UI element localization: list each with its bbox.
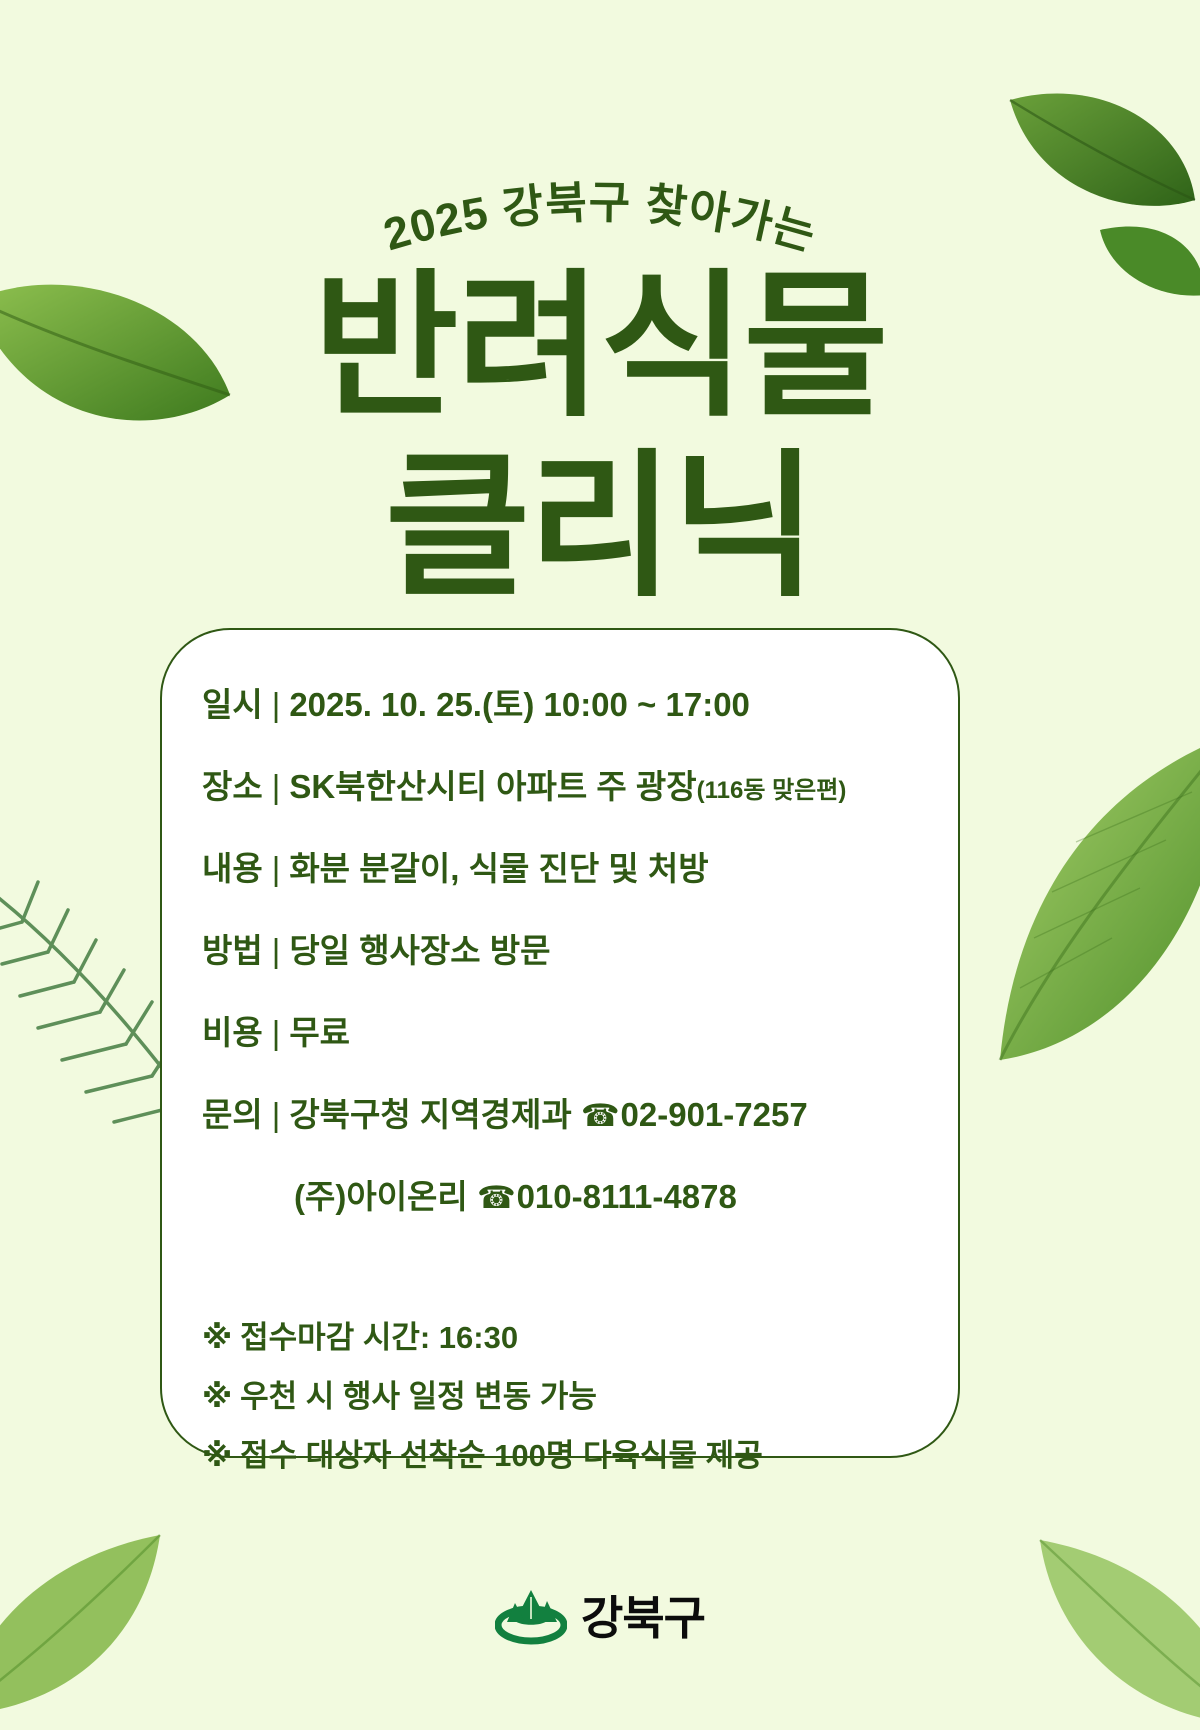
info-row-label: 일시 bbox=[202, 678, 263, 726]
info-row: 내용|화분 분갈이, 식물 진단 및 처방 bbox=[202, 842, 932, 890]
note-mark-icon: ※ bbox=[202, 1320, 232, 1355]
info-row-separator: | bbox=[272, 768, 281, 806]
info-row-note: (116동 맞은편) bbox=[697, 770, 847, 805]
spacer bbox=[468, 1178, 477, 1215]
footer-logo: 강북구 bbox=[0, 1582, 1200, 1648]
note-row: ※접수 대상자 선착순 100명 다육식물 제공 bbox=[202, 1430, 763, 1475]
info-row: 일시|2025. 10. 25.(토) 10:00 ~ 17:00 bbox=[202, 678, 932, 726]
telephone-icon: ☎ bbox=[581, 1098, 620, 1134]
note-mark-icon: ※ bbox=[202, 1379, 232, 1414]
note-text: 접수 대상자 선착순 100명 다육식물 제공 bbox=[240, 1438, 763, 1473]
info-row-value: 강북구청 지역경제과 bbox=[289, 1088, 571, 1136]
info-row-separator: | bbox=[272, 932, 281, 970]
contact-secondary-phone-number[interactable]: 010-8111-4878 bbox=[517, 1178, 737, 1215]
note-text: 접수마감 시간: 16:30 bbox=[240, 1320, 518, 1355]
info-card: 일시|2025. 10. 25.(토) 10:00 ~ 17:00장소|SK북한… bbox=[160, 628, 960, 1458]
info-row-label: 방법 bbox=[202, 924, 263, 972]
arched-kicker-text: 2025 강북구 찾아가는 bbox=[378, 177, 822, 261]
poster-title-line-1: 반려식물 bbox=[0, 268, 1200, 426]
info-row: 문의|강북구청 지역경제과 ☎02-901-7257 bbox=[202, 1088, 932, 1136]
info-row-separator: | bbox=[272, 1096, 281, 1134]
info-row-phone-number[interactable]: 02-901-7257 bbox=[621, 1096, 808, 1134]
info-row-value: SK북한산시티 아파트 주 광장 bbox=[289, 760, 696, 808]
contact-secondary-row: (주)아이온리 ☎010-8111-4878 bbox=[294, 1170, 932, 1218]
info-row: 방법|당일 행사장소 방문 bbox=[202, 924, 932, 972]
arched-kicker: 2025 강북구 찾아가는 bbox=[0, 118, 1200, 278]
info-row: 비용|무료 bbox=[202, 1006, 932, 1054]
info-row-separator: | bbox=[272, 850, 281, 888]
info-row-separator: | bbox=[272, 686, 281, 724]
info-row-value: 당일 행사장소 방문 bbox=[289, 924, 550, 972]
info-row-label: 장소 bbox=[202, 760, 263, 808]
gangbuk-gu-mountain-logo-icon bbox=[495, 1585, 567, 1645]
info-row-separator: | bbox=[272, 1014, 281, 1052]
footer-logo-text: 강북구 bbox=[581, 1582, 705, 1648]
note-text: 우천 시 행사 일정 변동 가능 bbox=[240, 1379, 597, 1414]
notes-list: ※접수마감 시간: 16:30※우천 시 행사 일정 변동 가능※접수 대상자 … bbox=[202, 1312, 763, 1489]
note-row: ※우천 시 행사 일정 변동 가능 bbox=[202, 1371, 763, 1416]
info-row: 장소|SK북한산시티 아파트 주 광장(116동 맞은편) bbox=[202, 760, 932, 808]
contact-secondary-org: (주)아이온리 bbox=[294, 1178, 468, 1215]
spacer bbox=[572, 1096, 581, 1134]
poster-title-line-2: 클리닉 bbox=[0, 448, 1200, 606]
info-row-value: 2025. 10. 25.(토) 10:00 ~ 17:00 bbox=[289, 678, 750, 726]
info-list: 일시|2025. 10. 25.(토) 10:00 ~ 17:00장소|SK북한… bbox=[202, 678, 932, 1252]
telephone-icon: ☎ bbox=[477, 1180, 516, 1215]
note-row: ※접수마감 시간: 16:30 bbox=[202, 1312, 763, 1357]
leaf-decoration-middle-right bbox=[980, 730, 1200, 1080]
svg-text:2025 강북구 찾아가는: 2025 강북구 찾아가는 bbox=[378, 177, 822, 261]
info-row-label: 문의 bbox=[202, 1088, 263, 1136]
info-row-label: 내용 bbox=[202, 842, 263, 890]
info-row-value: 화분 분갈이, 식물 진단 및 처방 bbox=[289, 842, 708, 890]
info-row-label: 비용 bbox=[202, 1006, 263, 1054]
info-row-value: 무료 bbox=[289, 1006, 350, 1054]
note-mark-icon: ※ bbox=[202, 1438, 232, 1473]
